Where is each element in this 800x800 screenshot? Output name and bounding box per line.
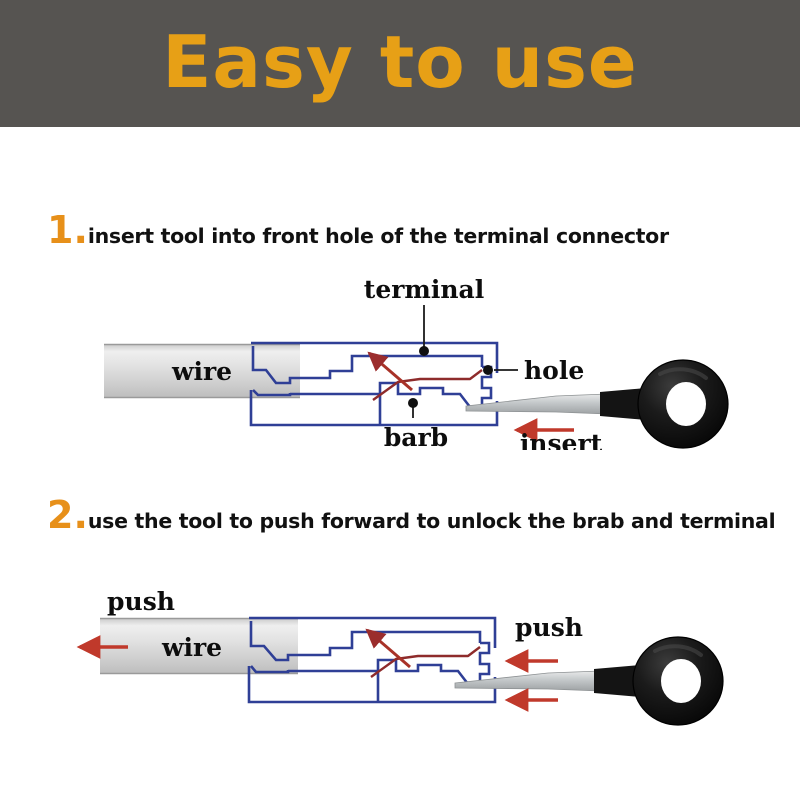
barb-graphic <box>373 370 482 400</box>
hole-label: hole <box>524 356 584 385</box>
instruction-infographic: Easy to use 1.insert tool into front hol… <box>0 0 800 800</box>
step-1-text: insert tool into front hole of the termi… <box>88 224 669 248</box>
wire-graphic: wire <box>104 344 300 398</box>
diagram-step-2: wire push <box>0 556 800 746</box>
page-title: Easy to use <box>162 26 638 98</box>
wire-label: wire <box>171 357 232 386</box>
terminal-label: terminal <box>364 275 484 304</box>
step-2-number: 2. <box>47 493 88 537</box>
step-2-text: use the tool to push forward to unlock t… <box>88 509 775 533</box>
release-arrow <box>367 630 410 667</box>
wire-push-label: push <box>107 587 175 616</box>
header-banner: Easy to use <box>0 0 800 127</box>
barb-label: barb <box>384 423 448 450</box>
insert-label: insert <box>520 429 603 450</box>
step-1-heading: 1.insert tool into front hole of the ter… <box>47 211 669 249</box>
tool-push-label: push <box>515 613 583 642</box>
step-1-number: 1. <box>47 208 88 252</box>
step-2-heading: 2.use the tool to push forward to unlock… <box>47 496 775 534</box>
release-arrow <box>369 353 412 390</box>
barb-leader: barb <box>384 398 448 450</box>
wire-label: wire <box>161 633 222 662</box>
insert-action: insert <box>517 429 603 450</box>
diagram-step-1: wire <box>0 270 800 450</box>
wire-graphic: wire <box>100 618 298 674</box>
tool-graphic <box>455 637 723 725</box>
barb-graphic <box>371 647 480 677</box>
